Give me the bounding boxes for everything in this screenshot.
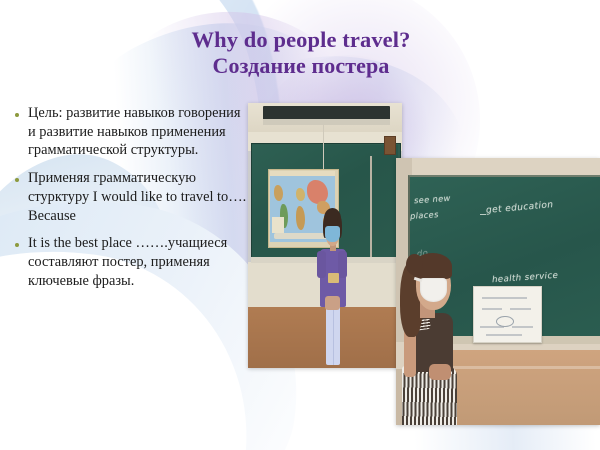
photo-poster-line	[510, 308, 530, 310]
slide-title-line-2: Создание постера	[96, 53, 506, 79]
presentation-slide: Why do people travel? Создание постера Ц…	[0, 0, 600, 450]
photo-projector-screen-case	[263, 106, 389, 121]
photo-student-sleeve-left	[317, 251, 325, 278]
bullet-dot-icon	[15, 243, 19, 247]
photo-screen-cord	[323, 124, 324, 172]
bullet-dot-icon	[15, 113, 19, 117]
photo-student-blue-face-mask	[325, 226, 339, 242]
bullet-text: Применяя грамматическую стурктуру I woul…	[28, 169, 248, 225]
photo-poster-line	[482, 297, 527, 299]
bullet-list: Цель: развитие навыков говорения и разви…	[12, 104, 248, 299]
photo-student-sleeve-right	[338, 251, 346, 278]
photo-world-map-title-strip	[270, 171, 336, 176]
photo-projector-screen-edge	[263, 119, 389, 125]
chalk-dash-mark	[480, 214, 486, 215]
bullet-text: It is the best place …….учащиеся составл…	[28, 234, 248, 290]
photo-poster-line	[480, 326, 504, 328]
slide-title: Why do people travel? Создание постера	[96, 27, 506, 79]
photo-map-legend	[272, 217, 284, 233]
photo-map-continent	[296, 206, 305, 230]
photo-student-hands	[429, 364, 451, 380]
photo-poster-circle	[496, 316, 514, 327]
photo-poster-line	[482, 308, 502, 310]
bullet-text: Цель: развитие навыков говорения и разви…	[28, 104, 248, 160]
list-item: It is the best place …….учащиеся составл…	[12, 234, 248, 290]
photo-student-trousers-seam	[333, 310, 334, 366]
slide-title-line-1: Why do people travel?	[96, 27, 506, 53]
photo-student-hair-tie	[406, 254, 422, 275]
list-item: Цель: развитие навыков говорения и разви…	[12, 104, 248, 160]
photo-student-hands	[325, 296, 340, 309]
photo-student-white-face-mask	[420, 278, 447, 302]
photo-board-side-panel	[370, 156, 372, 257]
bullet-dot-icon	[15, 178, 19, 182]
photo-poster-line	[512, 326, 532, 328]
photo-student-at-chalkboard: see new places get education health serv…	[396, 158, 600, 425]
list-item: Применяя грамматическую стурктуру I woul…	[12, 169, 248, 225]
photo-student-shirt-print	[328, 273, 339, 284]
chalk-note-places: places	[410, 209, 439, 221]
photo-poster-line	[486, 334, 523, 336]
photo-classroom-with-world-map	[248, 103, 402, 368]
photo-wall-picture-frame	[384, 136, 397, 155]
photo-map-continent	[296, 188, 305, 201]
